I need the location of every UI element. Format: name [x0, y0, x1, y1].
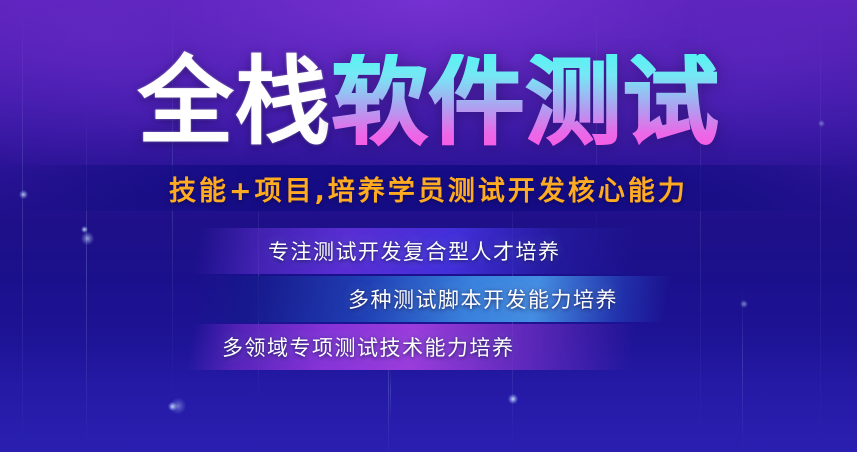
headline: 全栈 软件测试 — [0, 54, 857, 150]
glow-particle — [168, 402, 177, 411]
feature-bar-1[interactable]: 专注测试开发复合型人才培养 — [0, 228, 857, 274]
headline-gradient-part: 软件测试 — [332, 54, 720, 150]
light-streak — [390, 368, 391, 420]
promo-banner: 全栈 软件测试 技能+项目,培养学员测试开发核心能力 专注测试开发复合型人才培养… — [0, 0, 857, 452]
feature-bar-3-label: 多领域专项测试技术能力培养 — [222, 332, 515, 362]
subtitle-text: 技能+项目,培养学员测试开发核心能力 — [0, 165, 857, 211]
feature-bar-2-label: 多种测试脚本开发能力培养 — [348, 284, 618, 314]
feature-bar-list: 专注测试开发复合型人才培养 多种测试脚本开发能力培养 多领域专项测试技术能力培养 — [0, 228, 857, 372]
feature-bar-1-label: 专注测试开发复合型人才培养 — [268, 236, 561, 266]
glow-particle — [170, 398, 186, 414]
feature-bar-2[interactable]: 多种测试脚本开发能力培养 — [0, 276, 857, 322]
feature-bar-3[interactable]: 多领域专项测试技术能力培养 — [0, 324, 857, 370]
headline-white-part: 全栈 — [138, 54, 332, 150]
glow-particle — [508, 394, 518, 404]
